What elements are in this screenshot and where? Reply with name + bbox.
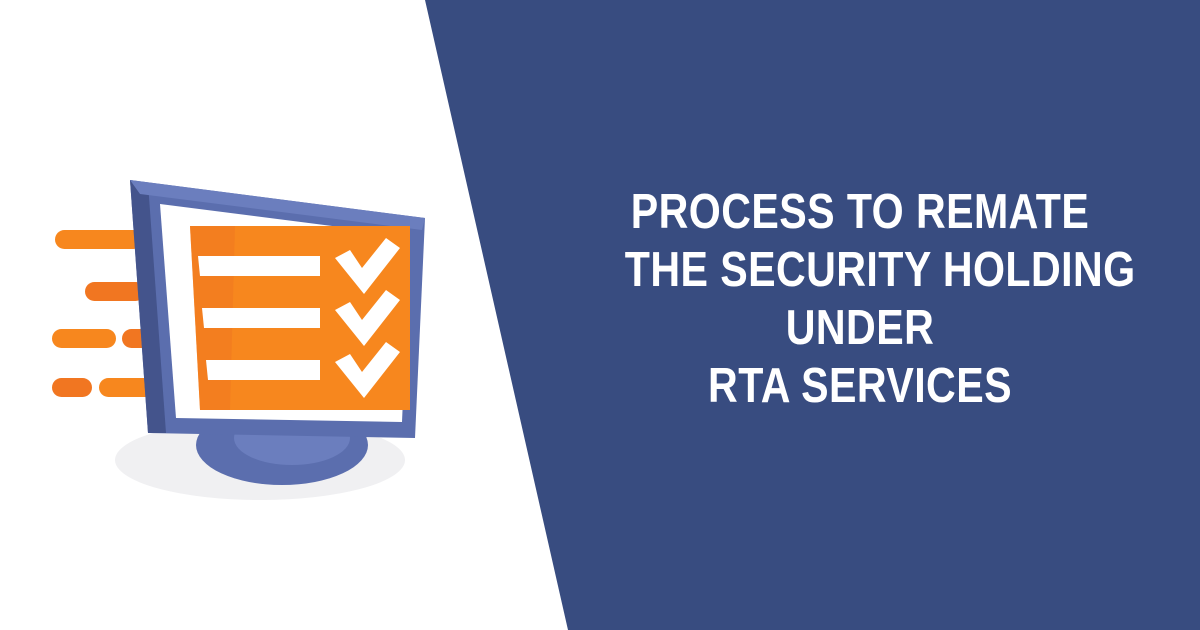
banner-canvas: PROCESS TO REMATE THE SECURITY HOLDING U… bbox=[0, 0, 1200, 630]
monitor-screen-group bbox=[190, 226, 410, 410]
motion-line-3a bbox=[52, 329, 116, 348]
screen-list-bar-2 bbox=[202, 308, 320, 328]
screen-list-bar-3 bbox=[206, 360, 320, 380]
motion-line-2a bbox=[85, 282, 145, 301]
title-line-3: UNDER bbox=[625, 299, 1095, 357]
motion-line-1a bbox=[55, 230, 143, 249]
monitor-checklist-illustration bbox=[30, 150, 450, 520]
title-line-4: RTA SERVICES bbox=[625, 357, 1095, 415]
title-line-2: THE SECURITY HOLDING bbox=[625, 241, 1095, 299]
motion-line-4a bbox=[52, 378, 92, 397]
page-title: PROCESS TO REMATE THE SECURITY HOLDING U… bbox=[580, 183, 1140, 415]
screen-list-bar-1 bbox=[198, 256, 320, 276]
title-line-1: PROCESS TO REMATE bbox=[625, 183, 1095, 241]
